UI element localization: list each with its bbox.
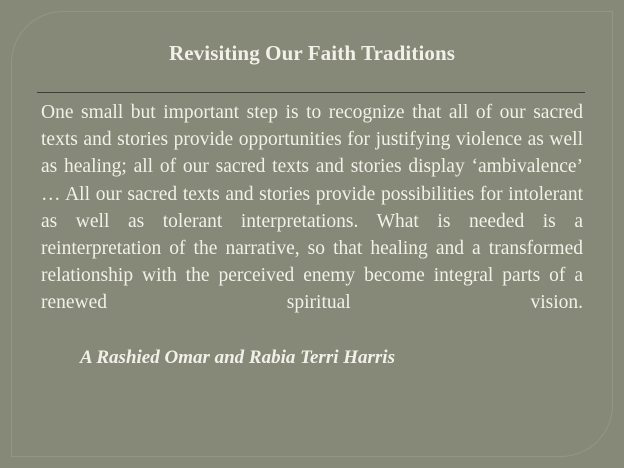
title-divider-rule <box>37 92 585 93</box>
slide-title: Revisiting Our Faith Traditions <box>0 40 624 66</box>
quotation-attribution: A Rashied Omar and Rabia Terri Harris <box>41 344 583 371</box>
presentation-slide: Revisiting Our Faith Traditions One smal… <box>0 0 624 468</box>
quotation-text: One small but important step is to recog… <box>41 99 583 344</box>
slide-body-block: One small but important step is to recog… <box>41 99 583 371</box>
